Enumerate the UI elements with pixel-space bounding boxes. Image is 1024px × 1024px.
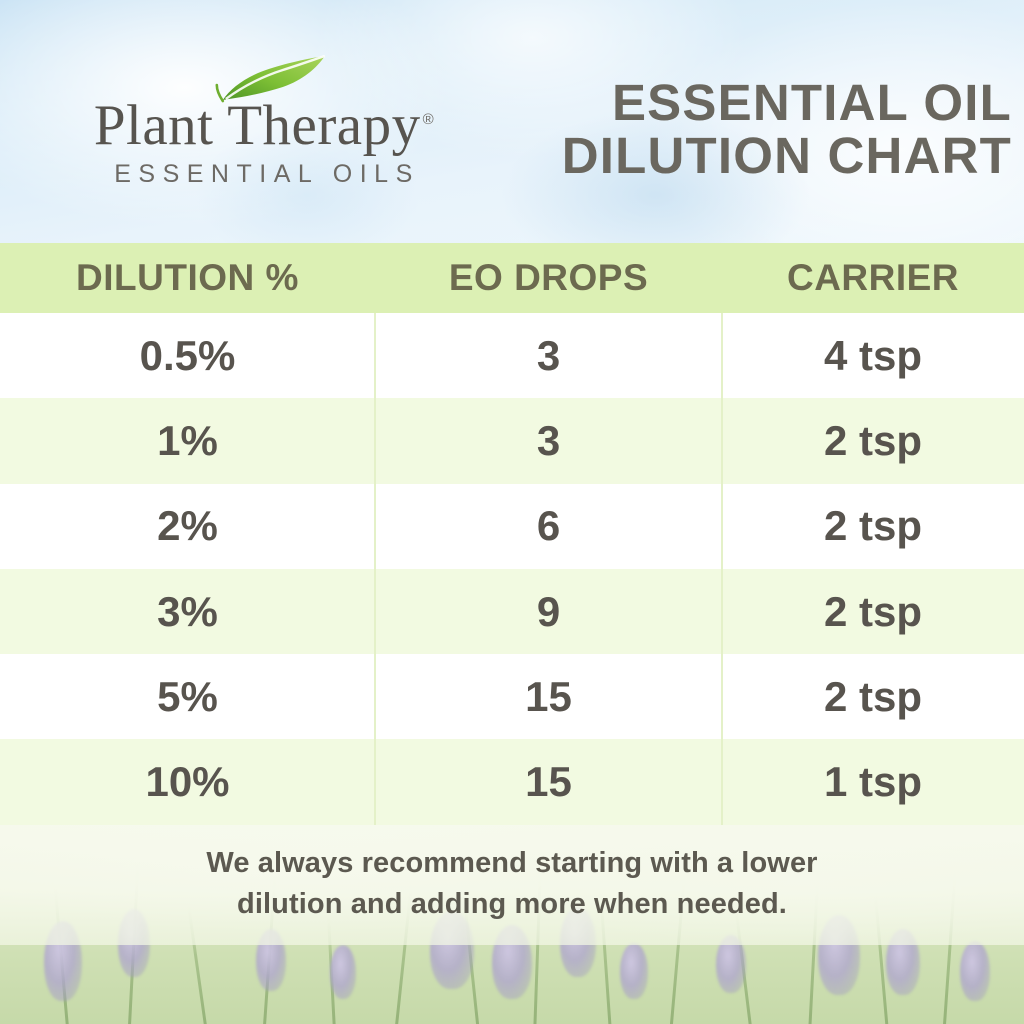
registered-mark: ®	[423, 111, 435, 128]
column-divider-1	[374, 313, 376, 825]
cell-drops: 3	[375, 332, 722, 380]
column-divider-2	[721, 313, 723, 825]
dilution-table: DILUTION % EO DROPS CARRIER 0.5% 3 4 tsp…	[0, 243, 1024, 825]
cell-carrier: 1 tsp	[722, 758, 1024, 806]
cell-dilution: 0.5%	[0, 332, 375, 380]
cell-carrier: 2 tsp	[722, 588, 1024, 636]
cell-drops: 15	[375, 673, 722, 721]
table-row: 1% 3 2 tsp	[0, 398, 1024, 483]
cell-drops: 15	[375, 758, 722, 806]
brand-tagline: ESSENTIAL OILS	[64, 160, 464, 189]
footer-note-line-2: dilution and adding more when needed.	[0, 884, 1024, 925]
title-line-1: ESSENTIAL OIL	[492, 76, 1012, 129]
cell-carrier: 2 tsp	[722, 502, 1024, 550]
footer-note-line-1: We always recommend starting with a lowe…	[0, 843, 1024, 884]
cell-drops: 3	[375, 417, 722, 465]
cell-dilution: 10%	[0, 758, 375, 806]
cell-carrier: 2 tsp	[722, 673, 1024, 721]
table-row: 5% 15 2 tsp	[0, 654, 1024, 739]
page-title: ESSENTIAL OIL DILUTION CHART	[492, 76, 1012, 182]
table-row: 2% 6 2 tsp	[0, 484, 1024, 569]
cell-dilution: 2%	[0, 502, 375, 550]
table-header-row: DILUTION % EO DROPS CARRIER	[0, 243, 1024, 313]
cell-carrier: 4 tsp	[722, 332, 1024, 380]
brand-logo: Plant Therapy® ESSENTIAL OILS	[64, 38, 464, 189]
brand-name-text: Plant Therapy	[94, 94, 421, 157]
cell-dilution: 1%	[0, 417, 375, 465]
cell-dilution: 5%	[0, 673, 375, 721]
dilution-chart-infographic: Plant Therapy® ESSENTIAL OILS ESSENTIAL …	[0, 0, 1024, 1024]
table-row: 0.5% 3 4 tsp	[0, 313, 1024, 398]
brand-name: Plant Therapy®	[94, 96, 434, 155]
table-row: 3% 9 2 tsp	[0, 569, 1024, 654]
footer-note: We always recommend starting with a lowe…	[0, 843, 1024, 925]
table-row: 10% 15 1 tsp	[0, 739, 1024, 824]
leaf-icon-wrap	[64, 38, 464, 100]
cell-drops: 6	[375, 502, 722, 550]
cell-carrier: 2 tsp	[722, 417, 1024, 465]
title-line-2: DILUTION CHART	[492, 129, 1012, 182]
column-header-dilution: DILUTION %	[0, 257, 375, 299]
column-header-eo-drops: EO DROPS	[375, 257, 722, 299]
column-header-carrier: CARRIER	[722, 257, 1024, 299]
cell-drops: 9	[375, 588, 722, 636]
cell-dilution: 3%	[0, 588, 375, 636]
